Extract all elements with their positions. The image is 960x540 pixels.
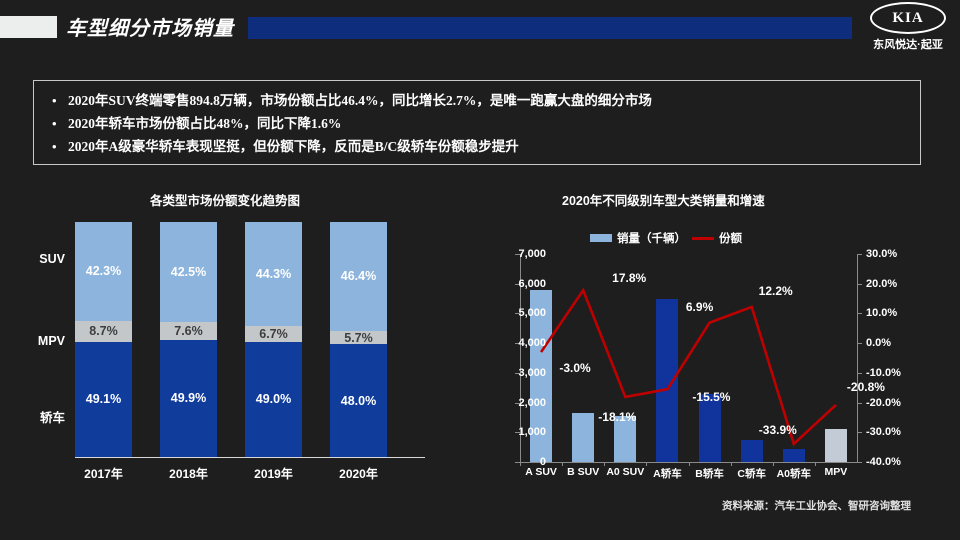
- right-chart-right-tick-label: -20.0%: [866, 397, 922, 409]
- bullet-text: 2020年A级豪华轿车表现坚挺，但份额下降，反而是B/C级轿车份额稳步提升: [68, 137, 519, 156]
- segment-sales-combo-chart: 销量（千辆） 份额 -3.0%17.8%-18.1%-15.5%6.9%12.2…: [470, 222, 940, 502]
- bullet-text: 2020年SUV终端零售894.8万辆，市场份额占比46.4%，同比增长2.7%…: [68, 91, 652, 110]
- axis-tick: [857, 313, 862, 314]
- right-chart-title: 2020年不同级别车型大类销量和增速: [562, 190, 765, 209]
- right-chart-left-tick-label: 5,000: [502, 307, 546, 319]
- axis-tick: [857, 373, 862, 374]
- stacked-bar-segment-MPV: 7.6%: [160, 322, 217, 340]
- left-chart-row-label-SUV: SUV: [20, 252, 75, 266]
- share-data-label: -33.9%: [759, 423, 797, 437]
- stacked-bar-value-label: 5.7%: [344, 331, 373, 345]
- right-chart-left-tick-label: 4,000: [502, 337, 546, 349]
- stacked-bar-value-label: 49.9%: [171, 391, 206, 405]
- stacked-bar-segment-SUV: 42.5%: [160, 222, 217, 322]
- right-chart-right-tick-label: -30.0%: [866, 426, 922, 438]
- left-chart-category-label: 2017年: [64, 465, 144, 482]
- stacked-bar-value-label: 46.4%: [341, 269, 376, 283]
- bullet-text: 2020年轿车市场份额占比48%，同比下降1.6%: [68, 114, 341, 133]
- axis-tick: [857, 284, 862, 285]
- share-data-label: -3.0%: [559, 361, 590, 375]
- source-note: 资料来源：汽车工业协会、智研咨询整理: [722, 498, 911, 513]
- axis-tick: [857, 403, 862, 404]
- right-chart-left-tick-label: 3,000: [502, 367, 546, 379]
- legend-bar-swatch-icon: [590, 234, 612, 242]
- right-chart-right-tick-label: -10.0%: [866, 367, 922, 379]
- right-chart-left-tick-label: 7,000: [502, 248, 546, 260]
- header-bar: 车型细分市场销量 KIA 东风悦达·起亚: [0, 0, 960, 62]
- right-chart-right-tick-label: -40.0%: [866, 456, 922, 468]
- right-chart-legend: 销量（千辆） 份额: [590, 230, 742, 246]
- right-chart-right-tick-label: 20.0%: [866, 278, 922, 290]
- share-data-label: -18.1%: [598, 410, 636, 424]
- right-chart-plot-area: -3.0%17.8%-18.1%-15.5%6.9%12.2%-33.9%-20…: [520, 254, 857, 462]
- market-share-stacked-chart: 49.1%8.7%42.3%49.9%7.6%42.5%49.0%6.7%44.…: [20, 222, 450, 490]
- stacked-bar-segment-SUV: 46.4%: [330, 222, 387, 331]
- stacked-bar-value-label: 49.0%: [256, 392, 291, 406]
- bullet-item: • 2020年A级豪华轿车表现坚挺，但份额下降，反而是B/C级轿车份额稳步提升: [52, 137, 914, 156]
- share-line-series: [520, 254, 857, 462]
- stacked-bar-value-label: 48.0%: [341, 394, 376, 408]
- stacked-bar-segment-MPV: 6.7%: [245, 326, 302, 342]
- share-data-label: -20.8%: [847, 380, 885, 394]
- stacked-bar-segment-轿车: 49.1%: [75, 342, 132, 457]
- left-chart-row-label-MPV: MPV: [20, 334, 75, 348]
- stacked-bar-segment-轿车: 49.0%: [245, 342, 302, 457]
- header-blue-bar: [248, 17, 852, 39]
- share-data-label: -15.5%: [692, 390, 730, 404]
- kia-logo-text: KIA: [892, 10, 923, 27]
- share-data-label: 6.9%: [686, 300, 713, 314]
- right-chart-right-tick-label: 30.0%: [866, 248, 922, 260]
- bullet-marker-icon: •: [52, 137, 68, 156]
- header-accent-block: [0, 16, 57, 38]
- stacked-bar-segment-SUV: 44.3%: [245, 222, 302, 326]
- share-data-label: 12.2%: [759, 284, 793, 298]
- kia-logo-subtitle: 东风悦达·起亚: [862, 36, 954, 52]
- stacked-bar-segment-SUV: 42.3%: [75, 222, 132, 321]
- left-chart-row-label-轿车: 轿车: [20, 407, 75, 426]
- bullet-marker-icon: •: [52, 91, 68, 110]
- axis-tick: [857, 432, 862, 433]
- stacked-bar-value-label: 49.1%: [86, 392, 121, 406]
- right-chart-right-tick-label: 0.0%: [866, 337, 922, 349]
- bullet-item: • 2020年SUV终端零售894.8万辆，市场份额占比46.4%，同比增长2.…: [52, 91, 914, 110]
- stacked-bar-segment-轿车: 49.9%: [160, 340, 217, 457]
- stacked-bar-column: 49.9%7.6%42.5%: [160, 222, 217, 457]
- stacked-bar-value-label: 6.7%: [259, 327, 288, 341]
- stacked-bar-segment-MPV: 5.7%: [330, 331, 387, 344]
- stacked-bar-column: 48.0%5.7%46.4%: [330, 222, 387, 457]
- legend-label: 份额: [719, 230, 742, 246]
- page-title: 车型细分市场销量: [66, 12, 234, 41]
- kia-logo: KIA 东风悦达·起亚: [862, 2, 954, 58]
- right-chart-category-label: MPV: [811, 466, 861, 478]
- stacked-bar-value-label: 8.7%: [89, 324, 118, 338]
- stacked-bar-column: 49.0%6.7%44.3%: [245, 222, 302, 457]
- bullet-marker-icon: •: [52, 114, 68, 133]
- left-chart-title: 各类型市场份额变化趋势图: [150, 190, 300, 209]
- left-chart-plot-area: 49.1%8.7%42.3%49.9%7.6%42.5%49.0%6.7%44.…: [75, 222, 415, 457]
- left-chart-category-label: 2018年: [149, 465, 229, 482]
- right-chart-left-tick-label: 1,000: [502, 426, 546, 438]
- axis-tick: [857, 254, 862, 255]
- bullet-item: • 2020年轿车市场份额占比48%，同比下降1.6%: [52, 114, 914, 133]
- stacked-bar-value-label: 42.5%: [171, 265, 206, 279]
- stacked-bar-value-label: 42.3%: [86, 264, 121, 278]
- share-data-label: 17.8%: [612, 271, 646, 285]
- legend-line-swatch-icon: [692, 237, 714, 240]
- left-chart-category-label: 2019年: [234, 465, 314, 482]
- stacked-bar-segment-MPV: 8.7%: [75, 321, 132, 341]
- kia-oval-icon: KIA: [870, 2, 946, 34]
- stacked-bar-value-label: 7.6%: [174, 324, 203, 338]
- stacked-bar-value-label: 44.3%: [256, 267, 291, 281]
- legend-item-share: 份额: [692, 230, 742, 246]
- right-chart-left-tick-label: 2,000: [502, 397, 546, 409]
- left-chart-axis-line: [75, 457, 425, 458]
- legend-item-sales: 销量（千辆）: [590, 230, 686, 246]
- left-chart-category-label: 2020年: [319, 465, 399, 482]
- axis-tick: [857, 462, 862, 463]
- axis-tick: [857, 343, 862, 344]
- stacked-bar-segment-轿车: 48.0%: [330, 344, 387, 457]
- stacked-bar-column: 49.1%8.7%42.3%: [75, 222, 132, 457]
- right-chart-right-tick-label: 10.0%: [866, 307, 922, 319]
- right-chart-left-tick-label: 6,000: [502, 278, 546, 290]
- summary-callout-box: • 2020年SUV终端零售894.8万辆，市场份额占比46.4%，同比增长2.…: [33, 80, 921, 165]
- legend-label: 销量（千辆）: [617, 230, 686, 246]
